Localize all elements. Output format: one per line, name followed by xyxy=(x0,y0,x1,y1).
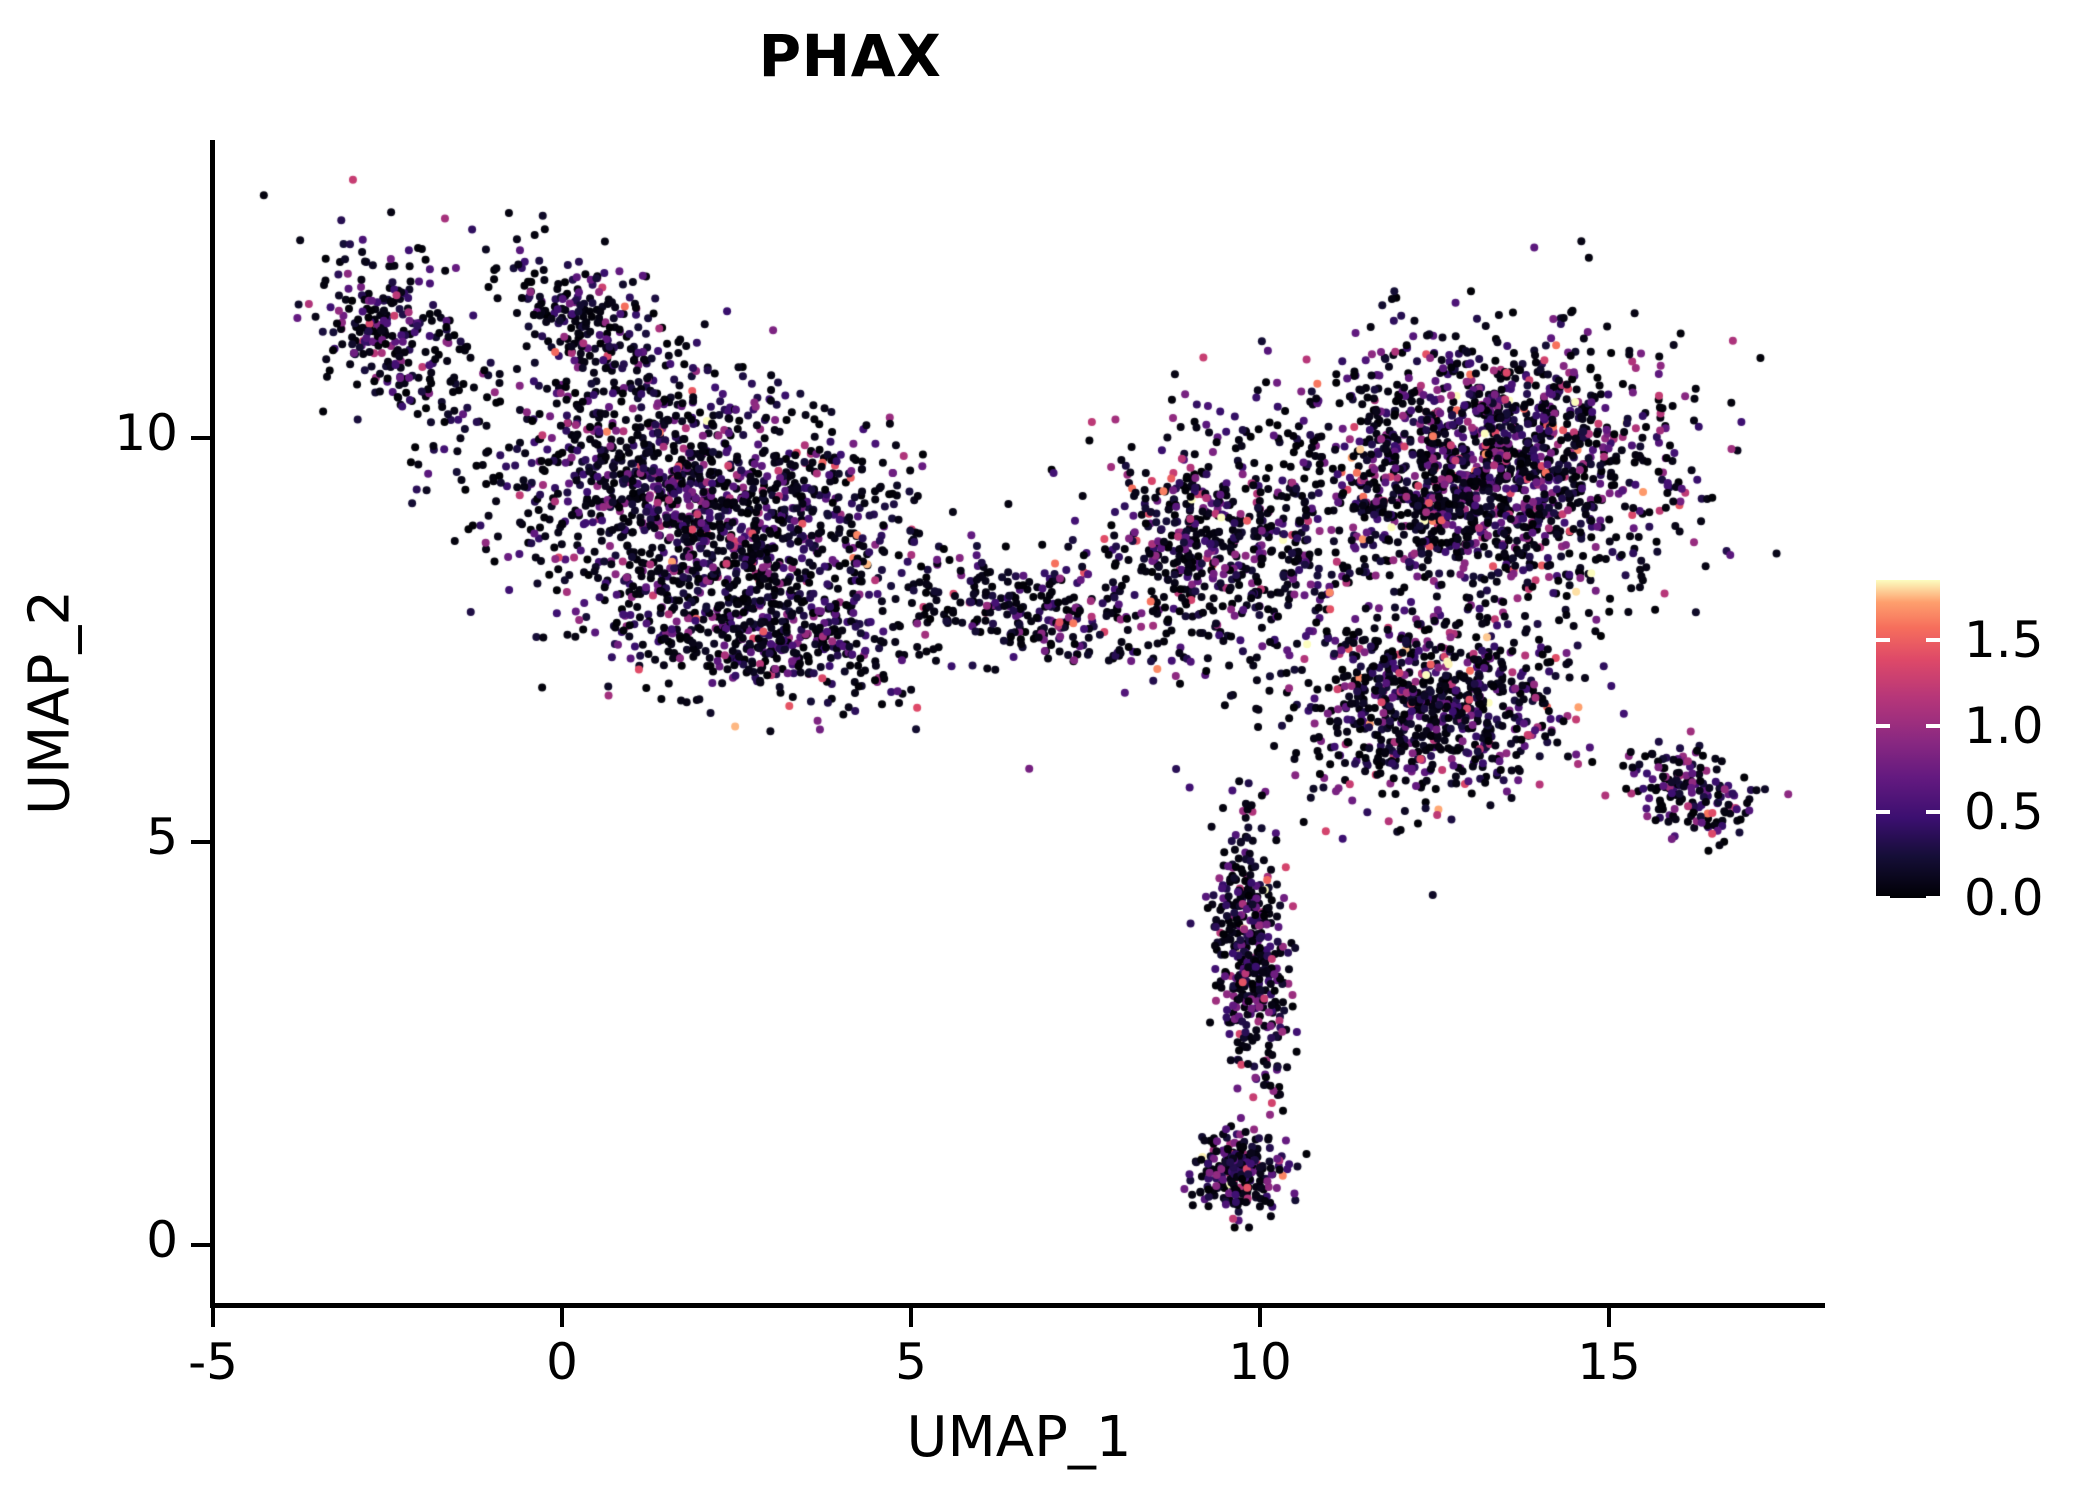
y-tick-mark xyxy=(191,1243,211,1247)
x-tick-label: 0 xyxy=(546,1333,578,1391)
x-tick-mark xyxy=(1258,1307,1262,1327)
y-tick-mark xyxy=(191,436,211,440)
x-tick-mark xyxy=(909,1307,913,1327)
x-tick-mark xyxy=(560,1307,564,1327)
colorbar-tick-mark xyxy=(1926,724,1940,728)
colorbar-tick-label: 1.5 xyxy=(1964,611,2044,669)
x-axis-line xyxy=(210,1303,1825,1308)
plot-panel xyxy=(213,140,1813,1305)
page-title: PHAX xyxy=(0,22,1700,90)
x-tick-mark xyxy=(1607,1307,1611,1327)
y-tick-mark xyxy=(191,840,211,844)
colorbar-tick-label: 0.5 xyxy=(1964,783,2044,841)
colorbar-tick-mark xyxy=(1926,638,1940,642)
colorbar-tick-mark xyxy=(1876,638,1890,642)
x-tick-label: 15 xyxy=(1577,1333,1641,1391)
y-axis-label: UMAP_2 xyxy=(18,353,83,1053)
y-axis-line xyxy=(210,140,215,1308)
umap-feature-plot: PHAX -5051015 0510 UMAP_1 UMAP_2 0.00.51… xyxy=(0,0,2100,1500)
x-axis-label: UMAP_1 xyxy=(213,1405,1825,1470)
x-tick-label: -5 xyxy=(188,1333,238,1391)
colorbar-tick-label: 0.0 xyxy=(1964,869,2044,927)
y-tick-label: 0 xyxy=(0,1211,178,1269)
colorbar-tick-mark xyxy=(1926,810,1940,814)
colorbar-tick-mark xyxy=(1876,810,1890,814)
scatter-points-layer xyxy=(213,140,1813,1305)
colorbar-tick-mark xyxy=(1926,896,1940,900)
x-tick-label: 10 xyxy=(1228,1333,1292,1391)
colorbar-tick-label: 1.0 xyxy=(1964,697,2044,755)
colorbar-tick-mark xyxy=(1876,896,1890,900)
colorbar-tick-mark xyxy=(1876,724,1890,728)
x-tick-label: 5 xyxy=(895,1333,927,1391)
colorbar-gradient xyxy=(1876,580,1940,898)
x-tick-mark xyxy=(211,1307,215,1327)
